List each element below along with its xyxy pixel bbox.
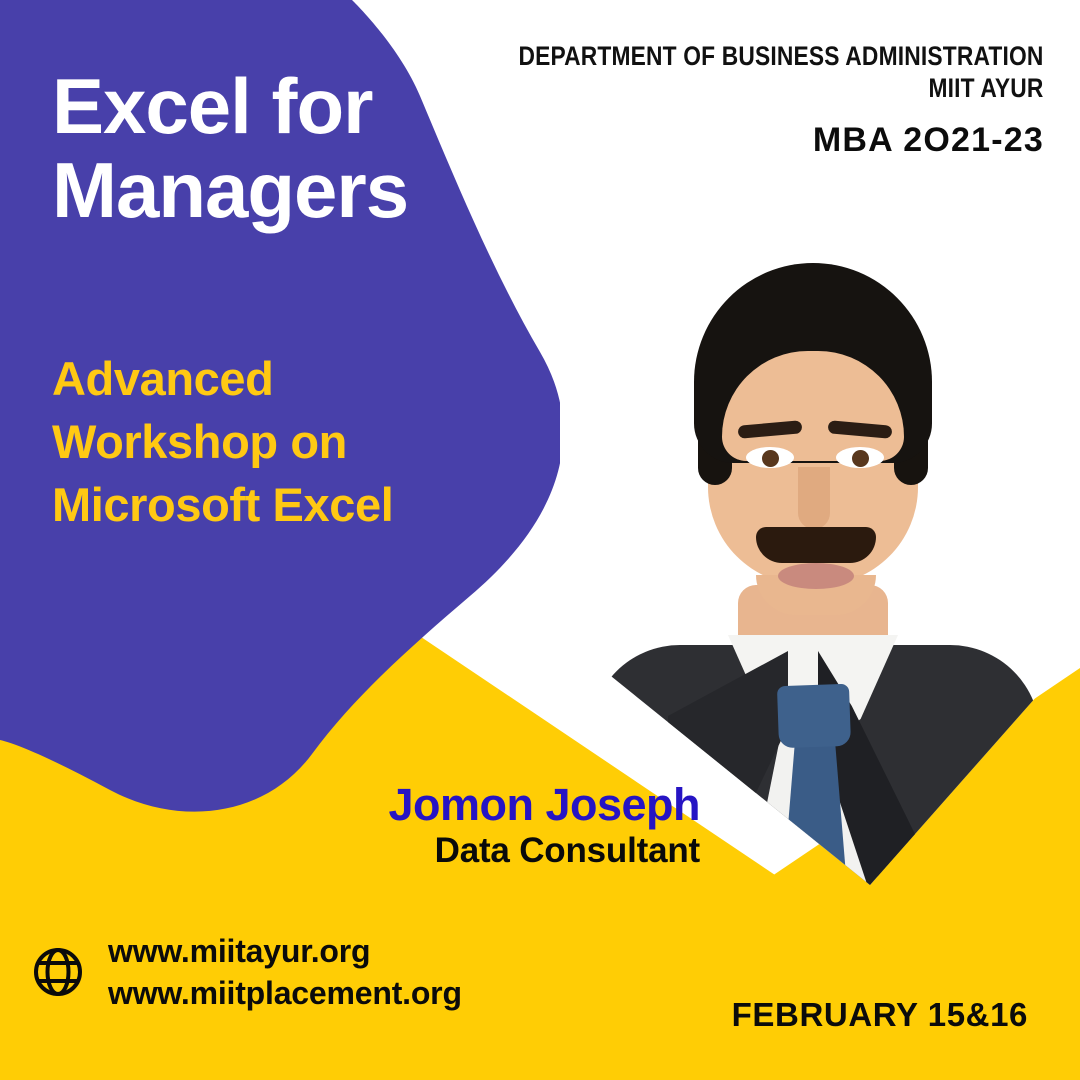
photo-hair (694, 263, 932, 463)
globe-icon (32, 946, 84, 998)
header-block: DEPARTMENT OF BUSINESS ADMINISTRATION MI… (433, 40, 1044, 160)
title-line-2: Managers (52, 148, 408, 232)
url-primary[interactable]: www.miitayur.org (108, 930, 462, 972)
department-line-1: DEPARTMENT OF BUSINESS ADMINISTRATION (519, 40, 1044, 72)
speaker-role: Data Consultant (0, 833, 700, 868)
url-secondary[interactable]: www.miitplacement.org (108, 972, 462, 1014)
subtitle-line-3: Microsoft Excel (52, 474, 393, 537)
poster-canvas: DEPARTMENT OF BUSINESS ADMINISTRATION MI… (0, 0, 1080, 1080)
event-date: FEBRUARY 15&16 (732, 996, 1028, 1034)
speaker-block: Jomon Joseph Data Consultant (0, 782, 700, 868)
department-line-2: MIIT AYUR (519, 72, 1044, 104)
photo-moustache (756, 527, 876, 563)
footer-contact: www.miitayur.org www.miitplacement.org (32, 930, 462, 1014)
subtitle-line-1: Advanced (52, 348, 393, 411)
photo-lips (778, 563, 854, 589)
photo-nose (798, 467, 830, 529)
program-label: MBA 2O21-23 (433, 121, 1044, 160)
speaker-name: Jomon Joseph (0, 782, 700, 827)
photo-tie-knot (777, 684, 851, 748)
title-line-1: Excel for (52, 64, 408, 148)
page-title: Excel for Managers (52, 64, 408, 232)
page-subtitle: Advanced Workshop on Microsoft Excel (52, 348, 393, 537)
photo-pupil-right (852, 450, 869, 467)
photo-pupil-left (762, 450, 779, 467)
subtitle-line-2: Workshop on (52, 411, 393, 474)
website-urls: www.miitayur.org www.miitplacement.org (108, 930, 462, 1014)
